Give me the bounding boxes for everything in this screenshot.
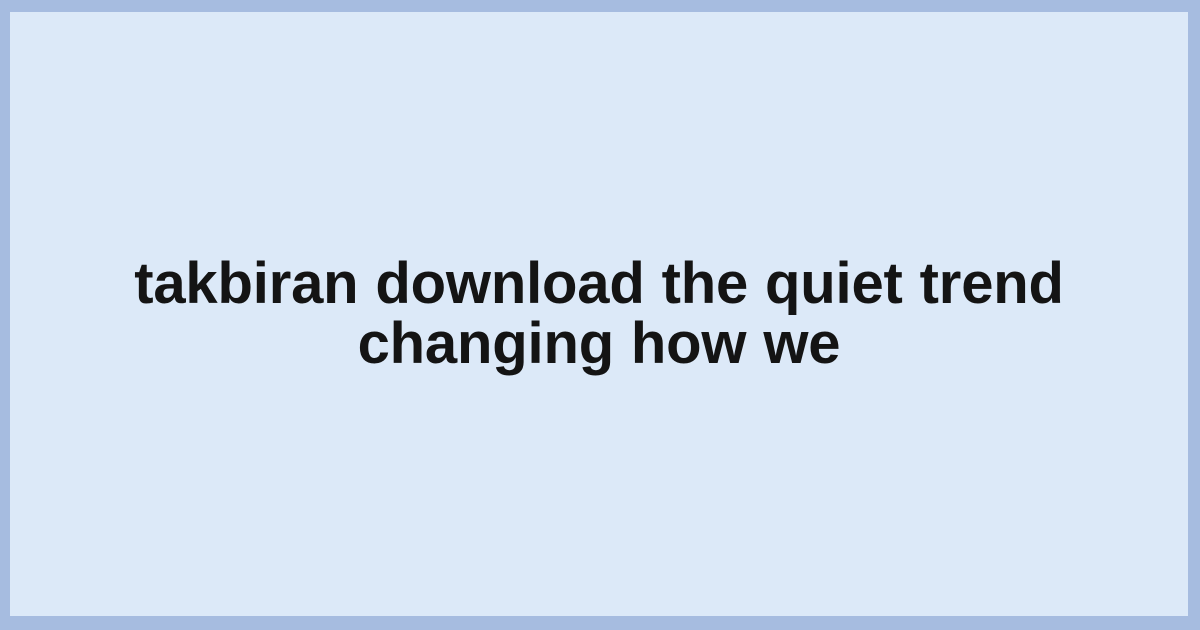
page-title: takbiran download the quiet trend changi…	[10, 254, 1188, 374]
headline-container: takbiran download the quiet trend changi…	[10, 254, 1188, 374]
og-card: takbiran download the quiet trend changi…	[0, 0, 1200, 630]
og-canvas: takbiran download the quiet trend changi…	[10, 12, 1188, 616]
